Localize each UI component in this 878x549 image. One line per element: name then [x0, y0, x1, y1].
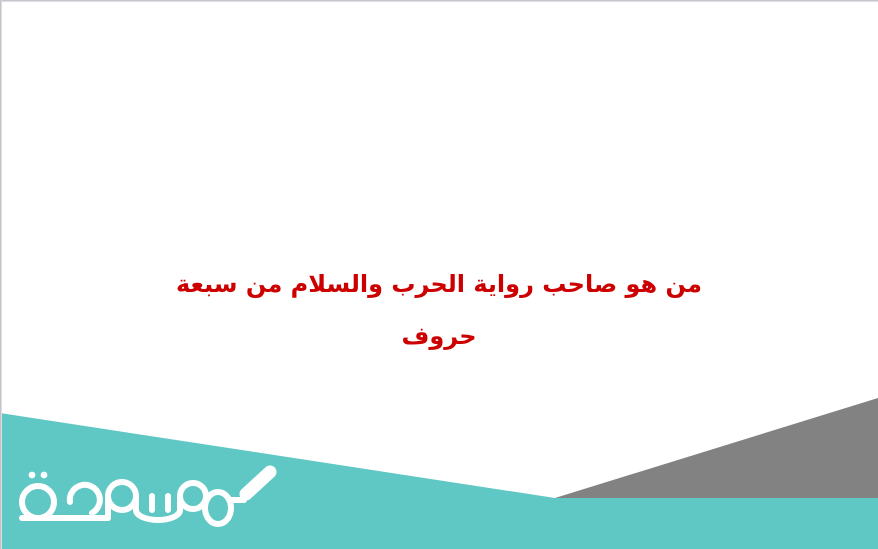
left-border-rule [0, 0, 2, 549]
taa-marbuta-dots [29, 472, 48, 479]
brand-logo[interactable] [12, 462, 298, 542]
slide-canvas: من هو صاحب رواية الحرب والسلام من سبعة ح… [0, 0, 878, 549]
logo-wordmark-moso3a [12, 462, 298, 542]
top-border-rule [0, 0, 878, 2]
gray-angled-band [555, 398, 878, 498]
